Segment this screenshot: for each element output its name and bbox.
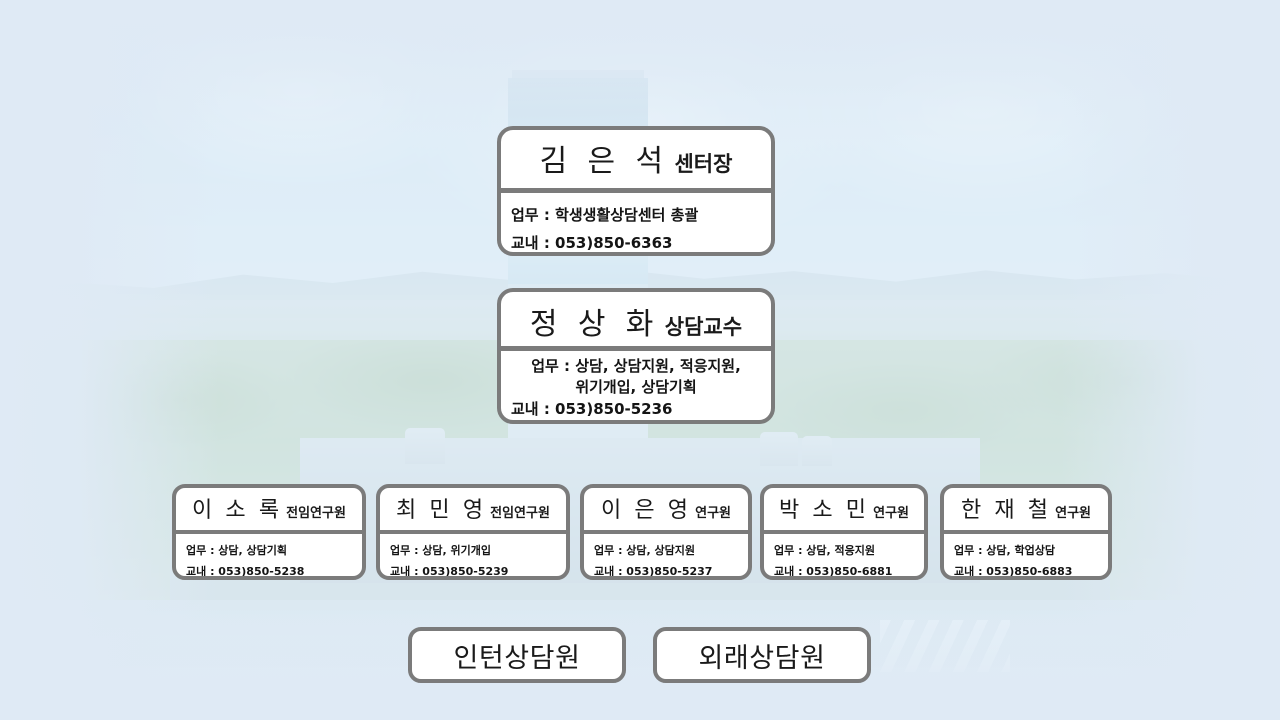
duty-line: 업무 : 상담, 상담지원: [594, 540, 748, 561]
person-name: 최 민 영: [396, 492, 486, 524]
card-header: 박 소 민 연구원: [764, 488, 924, 530]
person-title: 상담교수: [665, 311, 742, 341]
extension-line: 교내 : 053)850-5237: [594, 561, 748, 580]
extension-line: 교내 : 053)850-5239: [390, 561, 566, 580]
duty-line: 업무 : 상담, 상담기획: [186, 540, 362, 561]
person-title: 전임연구원: [286, 502, 346, 521]
card-body: 업무 : 상담, 상담지원 교내 : 053)850-5237: [584, 534, 748, 580]
person-name: 박 소 민: [779, 492, 869, 524]
group-label: 인턴상담원: [454, 636, 581, 675]
duty-line: 업무 : 상담, 학업상담: [954, 540, 1108, 561]
person-title: 연구원: [1055, 502, 1091, 521]
card-body: 업무 : 상담, 위기개입 교내 : 053)850-5239: [380, 534, 566, 580]
card-header: 이 은 영 연구원: [584, 488, 748, 530]
card-body: 업무 : 상담, 상담기획 교내 : 053)850-5238: [176, 534, 362, 580]
duty-line-2: 위기개입, 상담기획: [501, 377, 771, 398]
duty-line-1: 업무 : 상담, 상담지원, 적응지원,: [501, 356, 771, 377]
card-body: 업무 : 상담, 학업상담 교내 : 053)850-6883: [944, 534, 1108, 580]
card-body: 업무 : 학생생활상담센터 총괄 교내 : 053)850-6363: [501, 193, 771, 256]
duty-line: 업무 : 학생생활상담센터 총괄: [511, 202, 771, 230]
org-card-staff-han-jaecheol[interactable]: 한 재 철 연구원 업무 : 상담, 학업상담 교내 : 053)850-688…: [940, 484, 1112, 580]
org-card-center-director[interactable]: 김 은 석 센터장 업무 : 학생생활상담센터 총괄 교내 : 053)850-…: [497, 126, 775, 256]
card-header: 김 은 석 센터장: [501, 130, 771, 186]
person-name: 정 상 화: [530, 299, 659, 343]
card-header: 정 상 화 상담교수: [501, 292, 771, 346]
org-card-external-counselor[interactable]: 외래상담원: [653, 627, 871, 683]
org-card-staff-lee-sorok[interactable]: 이 소 록 전임연구원 업무 : 상담, 상담기획 교내 : 053)850-5…: [172, 484, 366, 580]
org-chart-page: 김 은 석 센터장 업무 : 학생생활상담센터 총괄 교내 : 053)850-…: [0, 0, 1280, 720]
person-title: 연구원: [873, 502, 909, 521]
person-name: 이 은 영: [601, 492, 691, 524]
person-title: 전임연구원: [490, 502, 550, 521]
card-body: 업무 : 상담, 적응지원 교내 : 053)850-6881: [764, 534, 924, 580]
extension-line: 교내 : 053)850-6883: [954, 561, 1108, 580]
person-name: 김 은 석: [540, 136, 669, 180]
person-name: 한 재 철: [961, 492, 1051, 524]
person-name: 이 소 록: [192, 492, 282, 524]
extension-line: 교내 : 053)850-6881: [774, 561, 924, 580]
card-header: 이 소 록 전임연구원: [176, 488, 362, 530]
duty-line: 업무 : 상담, 적응지원: [774, 540, 924, 561]
person-title: 센터장: [674, 148, 732, 178]
card-body: 업무 : 상담, 상담지원, 적응지원, 위기개입, 상담기획 교내 : 053…: [501, 351, 771, 420]
extension-line: 교내 : 053)850-5238: [186, 561, 362, 580]
org-card-intern-counselor[interactable]: 인턴상담원: [408, 627, 626, 683]
card-header: 한 재 철 연구원: [944, 488, 1108, 530]
org-card-staff-lee-eunyoung[interactable]: 이 은 영 연구원 업무 : 상담, 상담지원 교내 : 053)850-523…: [580, 484, 752, 580]
card-header: 최 민 영 전임연구원: [380, 488, 566, 530]
duty-line: 업무 : 상담, 위기개입: [390, 540, 566, 561]
extension-line: 교내 : 053)850-6363: [511, 230, 771, 256]
extension-line: 교내 : 053)850-5236: [501, 399, 771, 420]
org-card-staff-park-somin[interactable]: 박 소 민 연구원 업무 : 상담, 적응지원 교내 : 053)850-688…: [760, 484, 928, 580]
group-label: 외래상담원: [699, 636, 826, 675]
org-card-counseling-professor[interactable]: 정 상 화 상담교수 업무 : 상담, 상담지원, 적응지원, 위기개입, 상담…: [497, 288, 775, 424]
org-card-staff-choi-minyoung[interactable]: 최 민 영 전임연구원 업무 : 상담, 위기개입 교내 : 053)850-5…: [376, 484, 570, 580]
person-title: 연구원: [695, 502, 731, 521]
